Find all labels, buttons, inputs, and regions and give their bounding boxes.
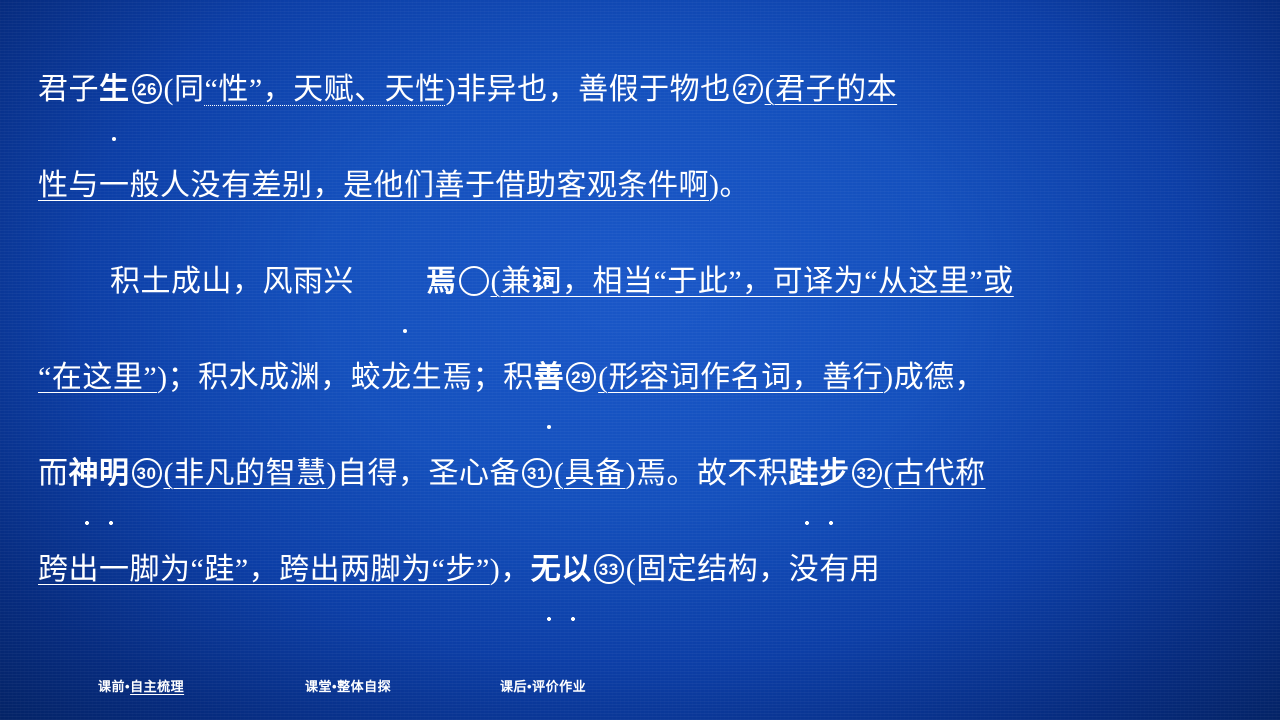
- line1-gloss-underline: (君子的本: [765, 73, 898, 106]
- line4-seg-1: )；积水成渊，蛟龙生焉；积: [157, 361, 534, 394]
- line1-seg-3: (同: [164, 73, 205, 106]
- footer-item-1-post: 自主梳理: [130, 679, 184, 694]
- circle-number-30: 30: [132, 458, 162, 488]
- text-line-5: 而神明30(非凡的智慧)自得，圣心备31(具备)焉。故不积跬步32(古代称: [38, 426, 1238, 522]
- line5-gloss-underline-a: (非凡的智慧: [164, 457, 327, 490]
- footer-item-3-pre: 课后: [500, 679, 527, 694]
- line2-seg-1: )。: [709, 169, 750, 202]
- slide-root: 君子生26(同“性”，天赋、天性)非异也，善假于物也27(君子的本 性与一般人没…: [0, 0, 1280, 720]
- line5-seg-7: )焉。故不积: [626, 457, 789, 490]
- footer-nav: 课前•自主梳理 课堂•整体自探 课后•评价作业: [0, 676, 1280, 706]
- line1-seg-0: 君子: [38, 73, 99, 106]
- text-line-6: 跨出一脚为“跬”，跨出两脚为“步”)，无以33(固定结构，没有用: [38, 522, 1238, 618]
- text-line-1: 君子生26(同“性”，天赋、天性)非异也，善假于物也27(君子的本: [38, 42, 1238, 138]
- circle-number-26: 26: [131, 73, 162, 104]
- footer-item-2-post: 整体自探: [337, 679, 391, 694]
- circle-number-33: 33: [594, 554, 624, 584]
- line4-gloss-underline-b: (形容词作名词，善行: [598, 361, 883, 394]
- line1-gloss-wavy: “性”，天赋、天性: [205, 73, 446, 106]
- line5-emphasis-word-shenming: 神明: [69, 426, 130, 522]
- footer-item-2-pre: 课堂: [305, 679, 332, 694]
- line5-emphasis-word-kuibu: 跬步: [789, 426, 850, 522]
- footer-item-after-class[interactable]: 课后•评价作业: [500, 676, 586, 695]
- line6-seg-1: )，: [490, 553, 531, 586]
- line5-gloss-underline-c: (古代称: [884, 457, 986, 490]
- line5-seg-0: 而: [38, 457, 69, 490]
- circle-number-31: 31: [522, 458, 552, 488]
- circle-number-28: 28: [459, 266, 489, 296]
- circle-number-27: 27: [733, 74, 763, 104]
- footer-item-in-class[interactable]: 课堂•整体自探: [305, 676, 391, 695]
- footer-item-3-post: 评价作业: [532, 679, 586, 694]
- text-line-4: “在这里”)；积水成渊，蛟龙生焉；积善29(形容词作名词，善行)成德，: [38, 330, 1238, 426]
- line3-seg-0: 积土成山，风雨兴: [110, 265, 354, 298]
- line6-gloss-underline: 跨出一脚为“跬”，跨出两脚为“步”: [38, 553, 490, 586]
- line6-seg-4: (固定结构，没有用: [626, 553, 881, 586]
- line5-gloss-underline-b: (具备: [554, 457, 626, 490]
- line3-emphasis-char: 焉: [354, 234, 457, 330]
- line2-gloss-underline: 性与一般人没有差别，是他们善于借助客观条件啊: [38, 169, 709, 202]
- circle-number-32: 32: [852, 458, 882, 488]
- line1-emphasis-char: 生: [99, 42, 130, 138]
- text-line-3: 积土成山，风雨兴焉28(兼词，相当“于此”，可译为“从这里”或: [38, 234, 1238, 330]
- line4-emphasis-char: 善: [534, 330, 565, 426]
- slide-body-text: 君子生26(同“性”，天赋、天性)非异也，善假于物也27(君子的本 性与一般人没…: [38, 42, 1238, 618]
- text-line-2: 性与一般人没有差别，是他们善于借助客观条件啊)。: [38, 138, 1238, 234]
- footer-item-pre-class[interactable]: 课前•自主梳理: [98, 676, 184, 695]
- line1-seg-5: )非异也，善假于物也: [446, 73, 731, 106]
- line4-gloss-underline-a: “在这里”: [38, 361, 157, 394]
- footer-item-1-pre: 课前: [98, 679, 125, 694]
- line5-seg-4: )自得，圣心备: [327, 457, 521, 490]
- line3-gloss-underline: (兼词，相当“于此”，可译为“从这里”或: [491, 265, 1014, 298]
- line4-seg-5: )成德，: [883, 361, 985, 394]
- line6-emphasis-word-wuyi: 无以: [531, 522, 592, 618]
- circle-number-29: 29: [566, 362, 596, 392]
